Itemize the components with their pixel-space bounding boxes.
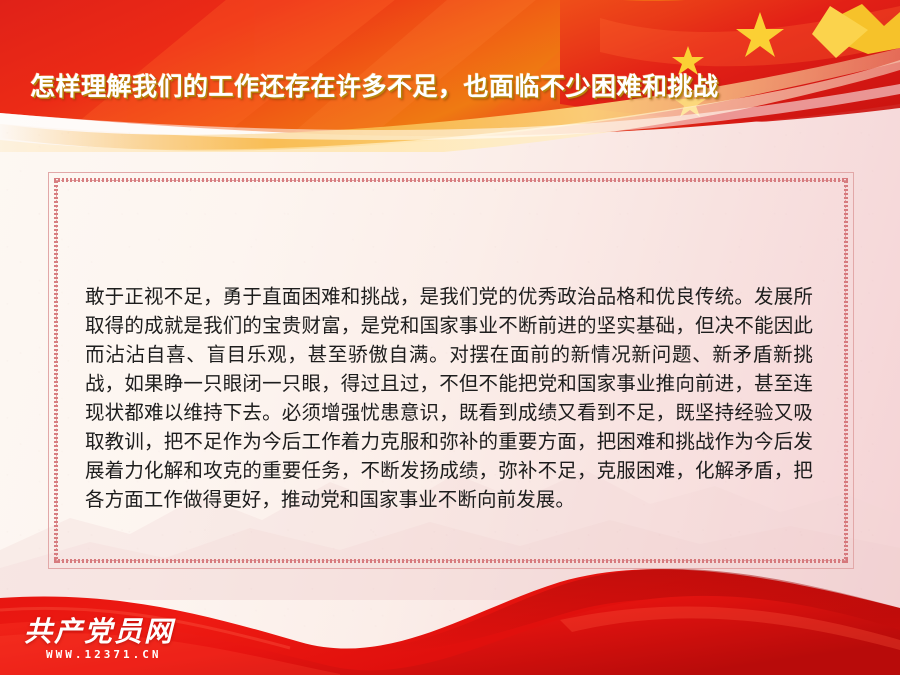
poster-canvas: 怎样理解我们的工作还存在许多不足，也面临不少困难和挑战 敢于正视不足，勇于直面困… <box>0 0 900 675</box>
logo-wordmark: 共产党员网 <box>24 617 174 646</box>
body-paragraph: 敢于正视不足，勇于直面困难和挑战，是我们党的优秀政治品格和优良传统。发展所取得的… <box>85 282 813 514</box>
page-title: 怎样理解我们的工作还存在许多不足，也面临不少困难和挑战 <box>30 67 719 103</box>
logo-url: WWW.12371.CN <box>46 648 174 661</box>
site-logo[interactable]: 共产党员网 WWW.12371.CN <box>24 617 174 661</box>
